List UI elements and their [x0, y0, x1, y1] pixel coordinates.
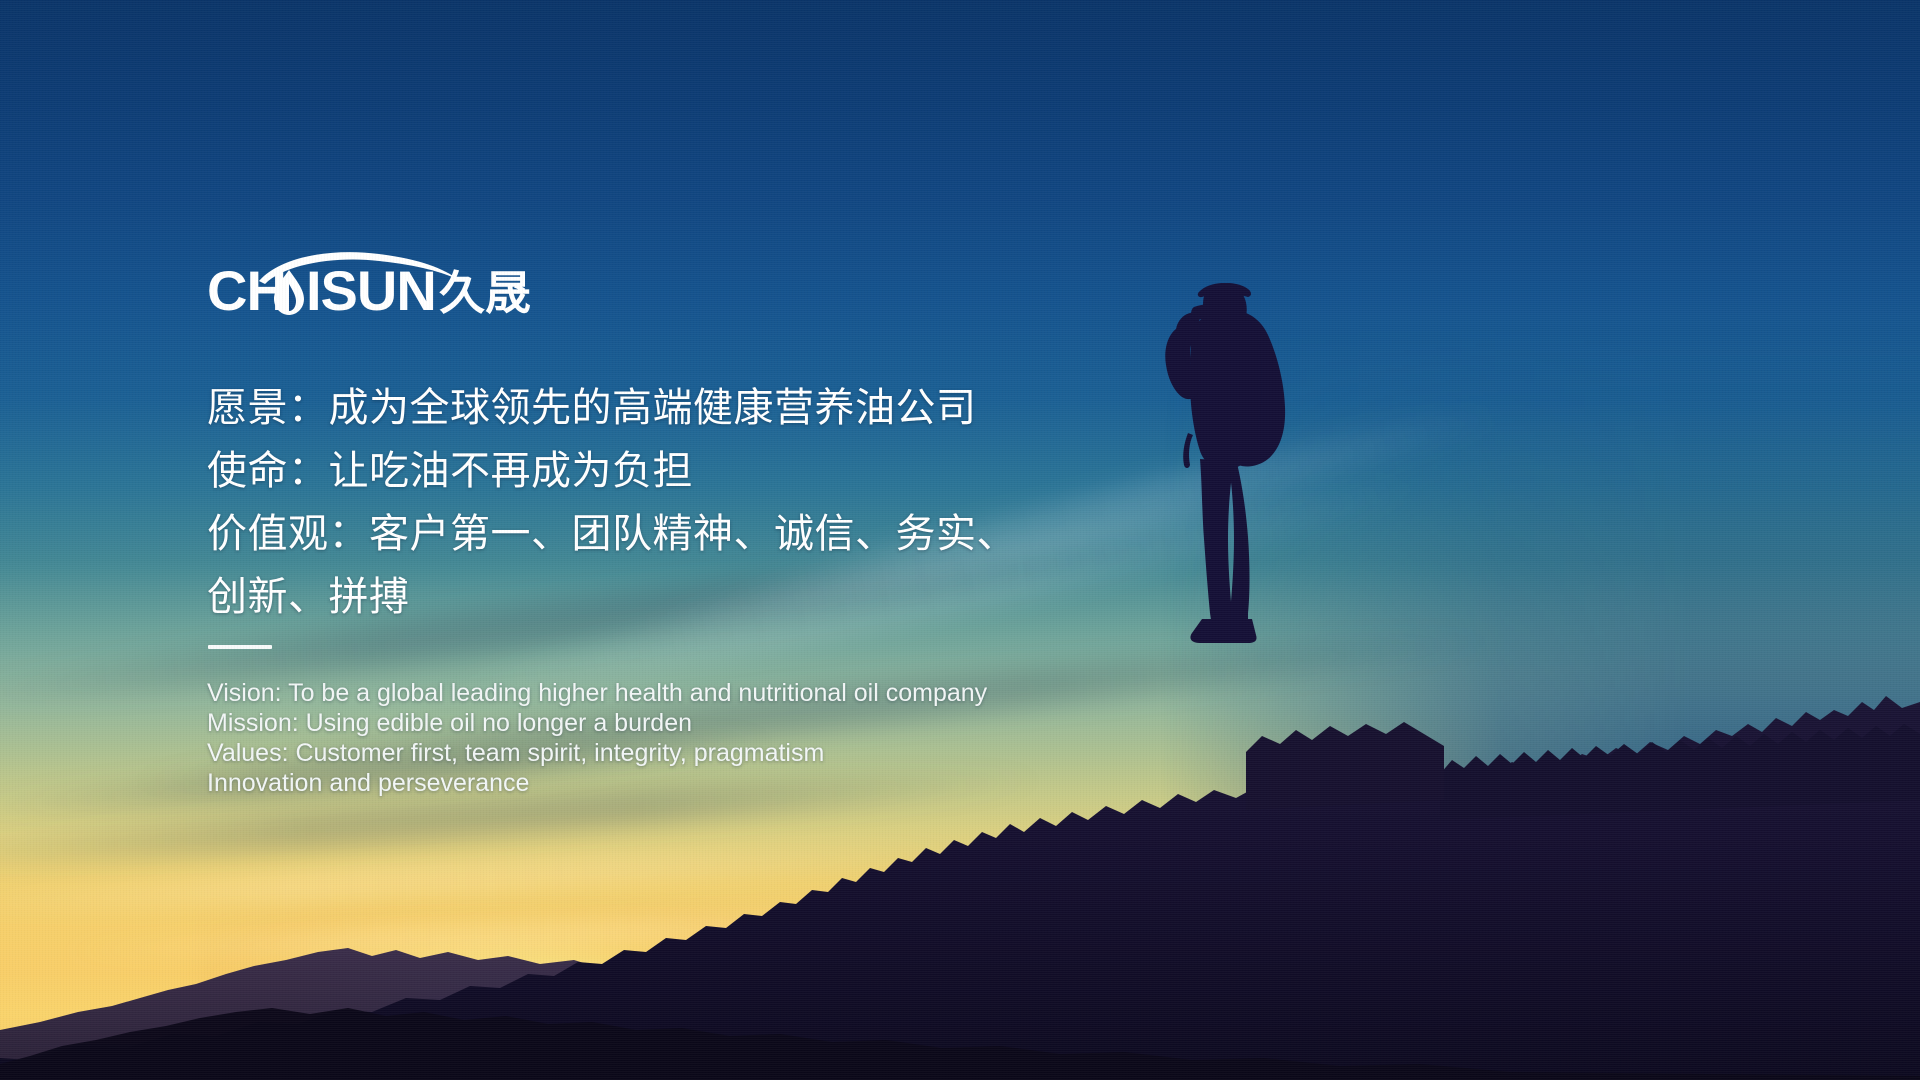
- vision-line-cn: 愿景：成为全球领先的高端健康营养油公司: [207, 377, 1137, 440]
- values-line-cn-cont: 创新、拼搏: [207, 566, 1137, 629]
- svg-text:ISUN: ISUN: [306, 259, 436, 320]
- vision-line-en: Vision: To be a global leading higher he…: [207, 678, 1107, 708]
- choisun-logo[interactable]: CH ISUN 久晟: [207, 248, 547, 320]
- svg-text:久晟: 久晟: [439, 266, 531, 320]
- svg-text:CH: CH: [207, 259, 286, 320]
- choisun-logo-mark: CH ISUN 久晟: [207, 248, 547, 320]
- values-line-cn: 价值观：客户第一、团队精神、诚信、务实、: [207, 503, 1137, 566]
- mountain-silhouette: [0, 560, 1920, 1080]
- values-line-en: Values: Customer first, team spirit, int…: [207, 738, 1107, 768]
- values-line-en-cont: Innovation and perseverance: [207, 768, 1107, 798]
- mission-statement-en: Vision: To be a global leading higher he…: [207, 678, 1107, 798]
- divider-rule: [208, 645, 272, 649]
- mission-statement-cn: 愿景：成为全球领先的高端健康营养油公司 使命：让吃油不再成为负担 价值观：客户第…: [207, 377, 1137, 629]
- slide-canvas: CH ISUN 久晟 CHOISUN 久晟 愿景：成为全球领先的高端健康营养油公…: [0, 0, 1920, 1080]
- mission-line-en: Mission: Using edible oil no longer a bu…: [207, 708, 1107, 738]
- hiker-silhouette-icon: [1138, 283, 1318, 645]
- mission-line-cn: 使命：让吃油不再成为负担: [207, 440, 1137, 503]
